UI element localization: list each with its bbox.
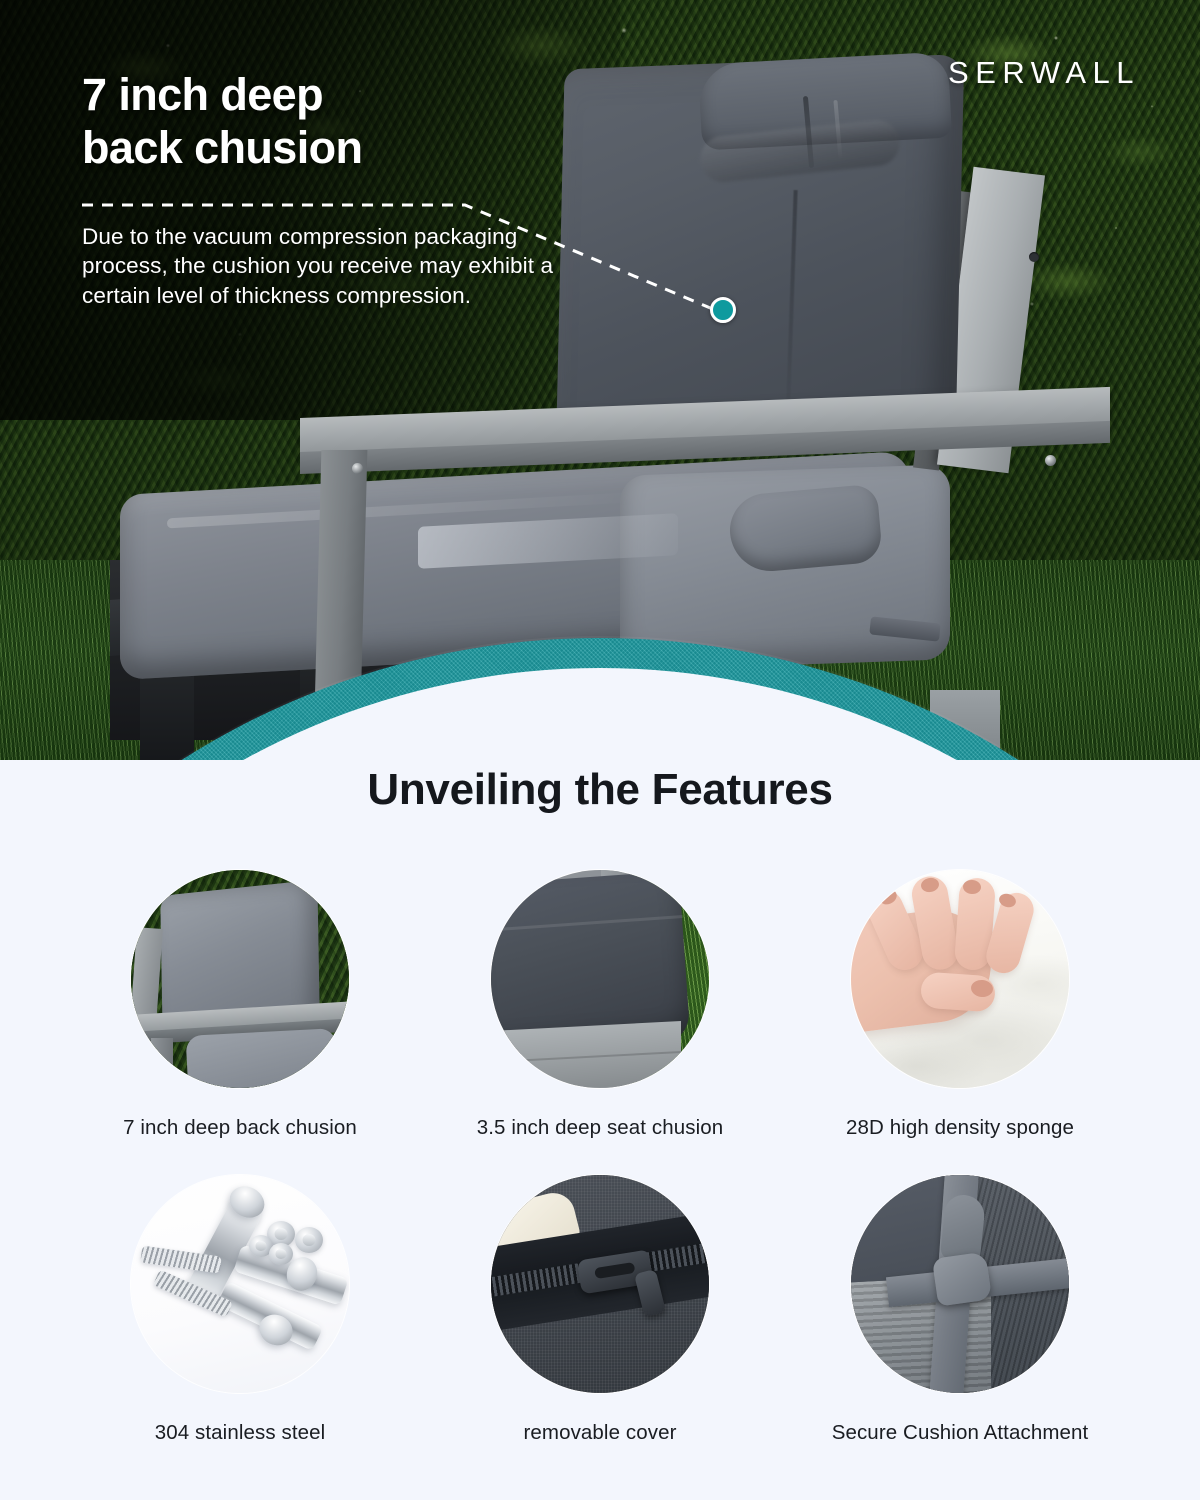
tie-strap-knot [932, 1251, 992, 1306]
feature-image-sponge [851, 870, 1069, 1088]
features-grid: 7 inch deep back chusion 3.5 inch deep s… [60, 870, 1140, 1480]
hero-title-line-2: back chusion [82, 121, 552, 174]
feature-image-secure-attachment [851, 1175, 1069, 1393]
hero-title-line-1: 7 inch deep [82, 68, 552, 121]
features-section: Unveiling the Features 7 inch deep back … [0, 760, 1200, 1500]
infographic-page: 7 inch deep back chusion Due to the vacu… [0, 0, 1200, 1500]
seat-cushion [186, 1028, 339, 1088]
feature-item-sponge[interactable]: 28D high density sponge [780, 870, 1140, 1175]
feature-label: Secure Cushion Attachment [832, 1421, 1089, 1445]
brand-logo: SERWALL [948, 55, 1140, 91]
hex-nut-2 [269, 1243, 293, 1265]
feature-label: 3.5 inch deep seat chusion [477, 1116, 724, 1140]
hero-title: 7 inch deep back chusion [82, 68, 552, 174]
feature-image-back-cushion [131, 870, 349, 1088]
feature-item-removable-cover[interactable]: removable cover [420, 1175, 780, 1480]
tie-strap-loop [940, 1193, 987, 1263]
feature-image-stainless-steel [131, 1175, 349, 1393]
washer-2 [295, 1227, 323, 1253]
chair-post-lower [151, 1038, 173, 1088]
feature-item-secure-attachment[interactable]: Secure Cushion Attachment [780, 1175, 1140, 1480]
hero-description: Due to the vacuum compression packaging … [82, 222, 562, 310]
features-row-2: 304 stainless steel removable cover [60, 1175, 1140, 1480]
feature-item-seat-cushion[interactable]: 3.5 inch deep seat chusion [420, 870, 780, 1175]
feature-label: 304 stainless steel [155, 1421, 326, 1445]
back-cushion-callout-dot[interactable] [710, 297, 736, 323]
hero-section: 7 inch deep back chusion Due to the vacu… [0, 0, 1200, 760]
features-heading: Unveiling the Features [0, 765, 1200, 815]
feature-image-seat-cushion [491, 870, 709, 1088]
feature-item-stainless-steel[interactable]: 304 stainless steel [60, 1175, 420, 1480]
feature-label: 7 inch deep back chusion [123, 1116, 357, 1140]
feature-label: removable cover [523, 1421, 676, 1445]
feature-label: 28D high density sponge [846, 1116, 1074, 1140]
feature-item-back-cushion[interactable]: 7 inch deep back chusion [60, 870, 420, 1175]
features-row-1: 7 inch deep back chusion 3.5 inch deep s… [60, 870, 1140, 1175]
feature-image-removable-cover [491, 1175, 709, 1393]
